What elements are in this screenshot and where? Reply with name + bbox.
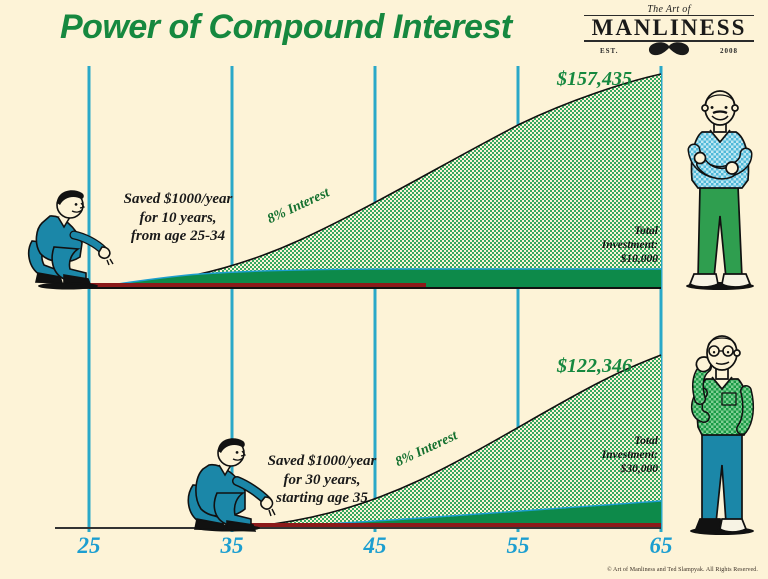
infographic-canvas: Power of Compound Interest The Art of MA…	[0, 0, 768, 579]
copyright-notice: © Art of Manliness and Ted Slampyak. All…	[607, 567, 758, 573]
pondering-man-hand-on-chin-icon	[676, 333, 762, 546]
early-investment-label: Total Investment: $10,000	[540, 224, 658, 266]
early-final-amount: $157,435	[557, 68, 632, 91]
late-contribution-bar	[232, 523, 661, 527]
late-final-amount: $122,346	[557, 355, 632, 378]
crouching-man-planting-icon-2	[183, 435, 278, 540]
standing-man-arms-crossed-icon	[676, 88, 762, 301]
late-investment-label: Total Investment: $30,000	[540, 434, 658, 476]
early-contribution-bar	[89, 283, 426, 287]
crouching-man-planting-icon	[24, 183, 116, 298]
axis-tick-55: 55	[494, 533, 542, 559]
early-saver-note: Saved $1000/year for 10 years, from age …	[92, 190, 264, 246]
axis-tick-25: 25	[65, 533, 113, 559]
axis-tick-45: 45	[351, 533, 399, 559]
